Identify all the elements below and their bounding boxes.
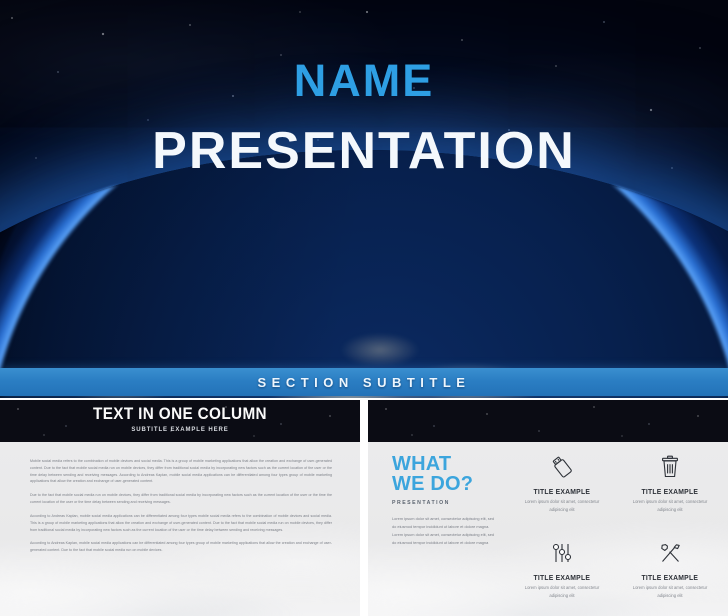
slide-text-in-one-column: TEXT IN ONE COLUMN SUBTITLE EXAMPLE HERE… xyxy=(0,400,360,616)
section-subtitle-banner: SECTION SUBTITLE xyxy=(0,368,728,396)
paragraph-group: Mobile social media refers to the combin… xyxy=(30,458,332,561)
feature-card-title: TITLE EXAMPLE xyxy=(642,487,699,496)
left-slide-body: Mobile social media refers to the combin… xyxy=(0,442,360,616)
feature-card-desc: Lorem ipsum dolor sit amet, consectetur … xyxy=(624,498,716,514)
feature-card: TITLE EXAMPLE Lorem ipsum dolor sit amet… xyxy=(616,444,724,530)
paragraph: According to Andreas Kaplan, mobile soci… xyxy=(30,513,332,533)
feature-card-desc: Lorem ipsum dolor sit amet, consectetur … xyxy=(624,584,716,600)
what-we-do-title-line2: WE DO? xyxy=(392,474,512,494)
right-slide-header xyxy=(368,400,728,442)
feature-card-desc: Lorem ipsum dolor sit amet, consectetur … xyxy=(516,498,608,514)
what-we-do-title-line1: WHAT xyxy=(392,454,512,474)
what-we-do-intro-text: Lorem ipsum dolor sit amet, consectetur … xyxy=(392,515,498,547)
feature-card-title: TITLE EXAMPLE xyxy=(534,487,591,496)
header-starfield xyxy=(368,400,728,442)
earth-from-space-image xyxy=(0,150,728,398)
section-subtitle-text: SECTION SUBTITLE xyxy=(258,375,471,390)
left-slide-header: TEXT IN ONE COLUMN SUBTITLE EXAMPLE HERE xyxy=(0,400,360,442)
tools-icon xyxy=(657,536,684,570)
what-we-do-eyebrow: PRESENTATION xyxy=(392,500,512,506)
secondary-slides-row: TEXT IN ONE COLUMN SUBTITLE EXAMPLE HERE… xyxy=(0,400,728,616)
feature-card-title: TITLE EXAMPLE xyxy=(642,573,699,582)
feature-card: TITLE EXAMPLE Lorem ipsum dolor sit amet… xyxy=(508,530,616,616)
left-slide-subheading: SUBTITLE EXAMPLE HERE xyxy=(0,427,360,433)
feature-card: TITLE EXAMPLE Lorem ipsum dolor sit amet… xyxy=(616,530,724,616)
atmosphere-rim xyxy=(0,150,728,398)
presentation-template-preview: NAME PRESENTATION SECTION SUBTITLE TEXT … xyxy=(0,0,728,616)
title-slide: NAME PRESENTATION SECTION SUBTITLE xyxy=(0,0,728,398)
feature-card: TITLE EXAMPLE Lorem ipsum dolor sit amet… xyxy=(508,444,616,530)
paragraph: Mobile social media refers to the combin… xyxy=(30,458,332,485)
what-we-do-block: WHAT WE DO? PRESENTATION Lorem ipsum dol… xyxy=(392,454,512,547)
feature-card-grid: TITLE EXAMPLE Lorem ipsum dolor sit amet… xyxy=(508,444,724,616)
left-slide-heading: TEXT IN ONE COLUMN xyxy=(18,404,342,424)
paragraph: According to Andreas Kaplan, mobile soci… xyxy=(30,540,332,554)
sliders-icon xyxy=(549,536,575,570)
slide-what-we-do: WHAT WE DO? PRESENTATION Lorem ipsum dol… xyxy=(368,400,728,616)
hero-title-text: PRESENTATION xyxy=(0,125,728,177)
trash-can-icon xyxy=(657,450,683,484)
paragraph: Due to the fact that mobile social media… xyxy=(30,492,332,506)
feature-card-desc: Lorem ipsum dolor sit amet, consectetur … xyxy=(516,584,608,600)
hero-name-text: NAME xyxy=(0,58,728,103)
right-slide-body: WHAT WE DO? PRESENTATION Lorem ipsum dol… xyxy=(368,442,728,616)
usb-drive-icon xyxy=(549,450,575,484)
feature-card-title: TITLE EXAMPLE xyxy=(534,573,591,582)
